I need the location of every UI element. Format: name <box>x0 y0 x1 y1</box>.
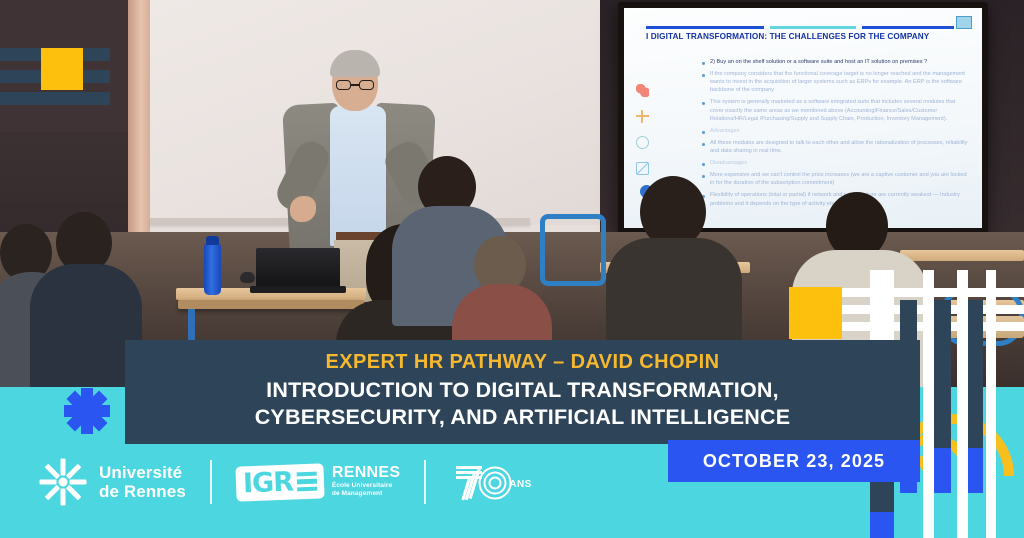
university-name-line2: de Rennes <box>99 482 186 501</box>
poster-canvas: I DIGITAL TRANSFORMATION: THE CHALLENGES… <box>0 0 1024 538</box>
slide-bullets: 2) Buy an on the shelf solution or a sof… <box>702 58 970 212</box>
laptop <box>256 248 340 288</box>
computer-mouse <box>240 272 255 283</box>
network-icon <box>636 110 649 123</box>
banner-headline-line1: INTRODUCTION TO DIGITAL TRANSFORMATION, <box>255 377 791 404</box>
slide-bullet: All these modules are designed to talk t… <box>702 139 970 155</box>
logo-row: Université de Rennes IGR RENNES École Un… <box>40 454 532 510</box>
slide-bullet-text: Disadvantages <box>710 159 747 167</box>
chair <box>540 214 606 286</box>
anniversary-label: ANS <box>509 479 531 490</box>
banner-headline: INTRODUCTION TO DIGITAL TRANSFORMATION, … <box>255 377 791 430</box>
slide-header: I DIGITAL TRANSFORMATION: THE CHALLENGES… <box>646 26 972 41</box>
title-banner: EXPERT HR PATHWAY – DAVID CHOPIN INTRODU… <box>125 340 920 444</box>
laptop-base <box>250 286 346 293</box>
shield-icon <box>636 162 649 175</box>
banner-eyebrow: EXPERT HR PATHWAY – DAVID CHOPIN <box>326 351 720 374</box>
iae-bars-icon <box>296 471 317 491</box>
student-desk <box>900 250 1024 261</box>
igr-wordmark: IGR <box>242 468 293 497</box>
slide-bullet: If the company considers that the functi… <box>702 70 970 94</box>
slide-bullet: 2) Buy an on the shelf solution or a sof… <box>702 58 970 66</box>
top-left-yellow-square <box>41 48 83 90</box>
school-sub-line2: de Management <box>332 490 400 499</box>
slide-bullet-text: 2) Buy an on the shelf solution or a sof… <box>710 58 927 66</box>
anniversary-logo: ANS <box>454 460 532 504</box>
slide-bullet-text: If the company considers that the functi… <box>710 70 970 94</box>
circle-icon <box>636 136 649 149</box>
dots-icon <box>636 84 649 97</box>
eyeglasses-icon <box>336 80 374 90</box>
slide-bullet: Advantages <box>702 127 970 135</box>
slide-bullet-text: All these modules are designed to talk t… <box>710 139 970 155</box>
date-badge: OCTOBER 23, 2025 <box>668 440 920 482</box>
slide-icon-column <box>636 84 649 175</box>
university-name: Université de Rennes <box>99 463 186 502</box>
logo-divider-2 <box>424 460 426 504</box>
school-city: RENNES <box>332 465 400 482</box>
igr-tile: IGR <box>235 463 324 501</box>
slide-bullet: Disadvantages <box>702 159 970 167</box>
slide-title: I DIGITAL TRANSFORMATION: THE CHALLENGES… <box>646 32 972 41</box>
starburst-icon <box>40 459 86 505</box>
water-bottle <box>204 243 221 295</box>
slide-bullet-text: More expensive and we can't control the … <box>710 171 970 187</box>
school-sub-line1: École Universitaire <box>332 482 400 491</box>
banner-headline-line2: CYBERSECURITY, AND ARTIFICIAL INTELLIGEN… <box>255 404 791 431</box>
date-badge-label: OCTOBER 23, 2025 <box>703 451 885 472</box>
slide-bullet: More expensive and we can't control the … <box>702 171 970 187</box>
university-logo: Université de Rennes <box>40 459 186 505</box>
seventy-zero-glyph <box>478 466 511 499</box>
school-logo: IGR RENNES École Universitaire de Manage… <box>236 465 400 500</box>
school-name-block: RENNES École Universitaire de Management <box>332 465 400 499</box>
slide-bullet-text: Advantages <box>710 127 740 135</box>
slide-bullet: This system is generally marketed as a s… <box>702 98 970 122</box>
slide-bullet-text: This system is generally marketed as a s… <box>710 98 970 122</box>
university-name-line1: Université <box>99 463 186 482</box>
slide-rule <box>646 26 972 29</box>
lecturer-desk-edge <box>178 300 364 309</box>
bottle-cap <box>206 236 219 245</box>
logo-divider <box>210 460 212 504</box>
asterisk-icon <box>64 388 110 434</box>
right-yellow-square <box>789 287 842 339</box>
